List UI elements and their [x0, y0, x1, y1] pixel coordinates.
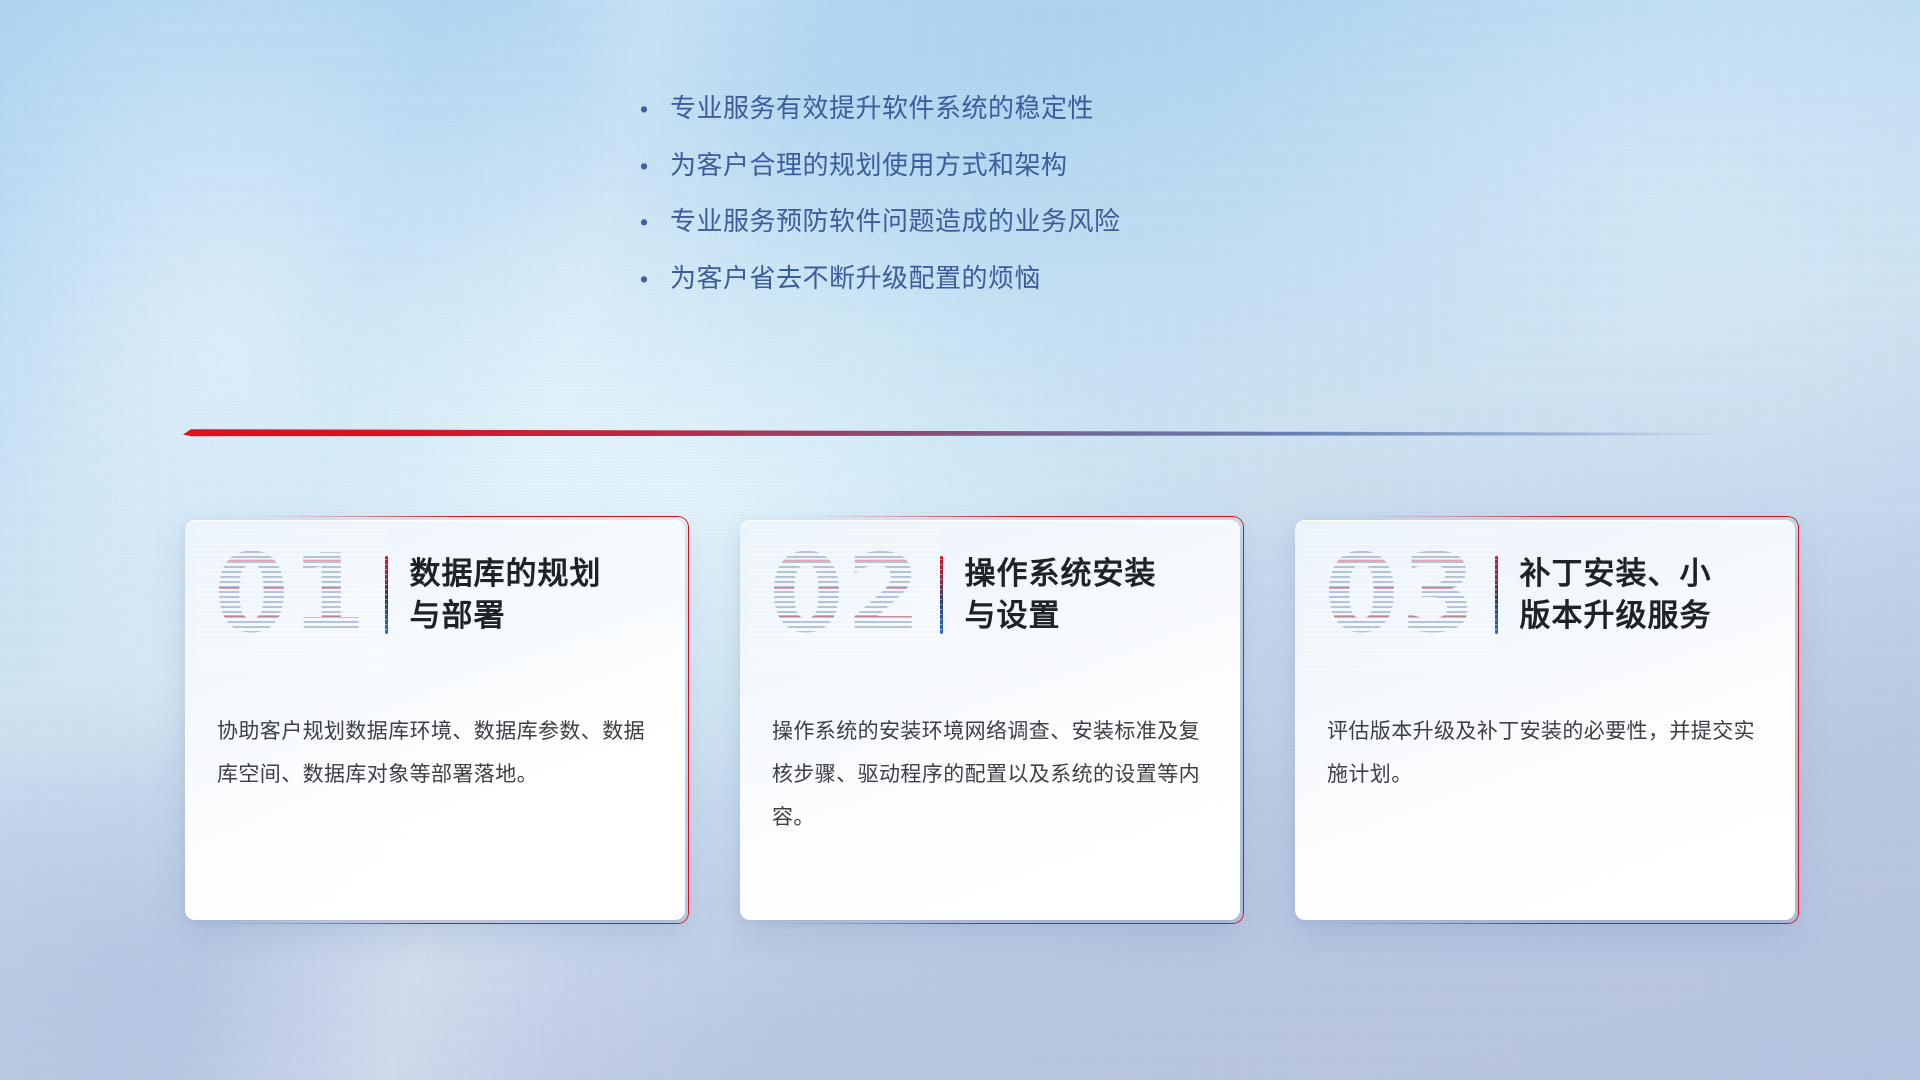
card-number: 02 — [769, 541, 923, 649]
card-title-line2: 与设置 — [965, 595, 1157, 637]
service-card[interactable]: 03 03 补丁安装、小 版本升级服务 评估版本升级及补丁安装的必要性，并提交实… — [1295, 520, 1795, 920]
bullet-text: 为客户合理的规划使用方式和架构 — [670, 151, 1068, 180]
service-cards: 01 01 数据库的规划 与部署 协助客户规划数据库环境、数据库参数、数据库空间… — [185, 520, 1795, 920]
card-number-ghost: 03 03 — [1311, 531, 1491, 659]
card-title-line1: 数据库的规划 — [410, 553, 602, 595]
benefits-bullet-list: • 专业服务有效提升软件系统的稳定性 • 为客户合理的规划使用方式和架构 • 专… — [0, 94, 1920, 292]
list-item: • 为客户合理的规划使用方式和架构 — [640, 151, 1280, 180]
card-header: 03 03 补丁安装、小 版本升级服务 — [1295, 520, 1795, 670]
bullet-dot-icon: • — [640, 211, 670, 234]
card-number-ghost: 01 01 — [201, 531, 381, 659]
list-item: • 专业服务预防软件问题造成的业务风险 — [640, 207, 1280, 236]
card-title-line1: 操作系统安装 — [965, 553, 1157, 595]
card-title: 数据库的规划 与部署 — [410, 553, 602, 636]
bullet-dot-icon: • — [640, 98, 670, 121]
service-card[interactable]: 02 02 操作系统安装 与设置 操作系统的安装环境网络调查、安装标准及复核步骤… — [740, 520, 1240, 920]
slide-content: • 专业服务有效提升软件系统的稳定性 • 为客户合理的规划使用方式和架构 • 专… — [0, 0, 1920, 1080]
card-surface: 02 02 操作系统安装 与设置 操作系统的安装环境网络调查、安装标准及复核步骤… — [740, 520, 1240, 920]
card-title-rule — [385, 556, 388, 634]
service-card[interactable]: 01 01 数据库的规划 与部署 协助客户规划数据库环境、数据库参数、数据库空间… — [185, 520, 685, 920]
bullet-dot-icon: • — [640, 268, 670, 291]
card-number: 01 — [214, 541, 368, 649]
card-number-ghost: 02 02 — [756, 531, 936, 659]
card-title: 补丁安装、小 版本升级服务 — [1520, 553, 1712, 636]
card-description: 评估版本升级及补丁安装的必要性，并提交实施计划。 — [1327, 710, 1769, 796]
card-title-line1: 补丁安装、小 — [1520, 553, 1712, 595]
section-divider — [183, 425, 1735, 447]
section-divider-shape — [183, 425, 1735, 447]
list-item: • 专业服务有效提升软件系统的稳定性 — [640, 94, 1280, 123]
card-title: 操作系统安装 与设置 — [965, 553, 1157, 636]
bullet-text: 专业服务有效提升软件系统的稳定性 — [670, 94, 1094, 123]
card-description: 操作系统的安装环境网络调查、安装标准及复核步骤、驱动程序的配置以及系统的设置等内… — [772, 710, 1214, 839]
card-title-line2: 与部署 — [410, 595, 602, 637]
card-header: 02 02 操作系统安装 与设置 — [740, 520, 1240, 670]
bullet-dot-icon: • — [640, 155, 670, 178]
card-title-rule — [1495, 556, 1498, 634]
card-surface: 01 01 数据库的规划 与部署 协助客户规划数据库环境、数据库参数、数据库空间… — [185, 520, 685, 920]
card-title-rule — [940, 556, 943, 634]
list-item: • 为客户省去不断升级配置的烦恼 — [640, 264, 1280, 293]
card-surface: 03 03 补丁安装、小 版本升级服务 评估版本升级及补丁安装的必要性，并提交实… — [1295, 520, 1795, 920]
bullet-text: 专业服务预防软件问题造成的业务风险 — [670, 207, 1121, 236]
card-number: 03 — [1324, 541, 1478, 649]
card-description: 协助客户规划数据库环境、数据库参数、数据库空间、数据库对象等部署落地。 — [217, 710, 659, 796]
bullet-text: 为客户省去不断升级配置的烦恼 — [670, 264, 1041, 293]
card-title-line2: 版本升级服务 — [1520, 595, 1712, 637]
card-header: 01 01 数据库的规划 与部署 — [185, 520, 685, 670]
